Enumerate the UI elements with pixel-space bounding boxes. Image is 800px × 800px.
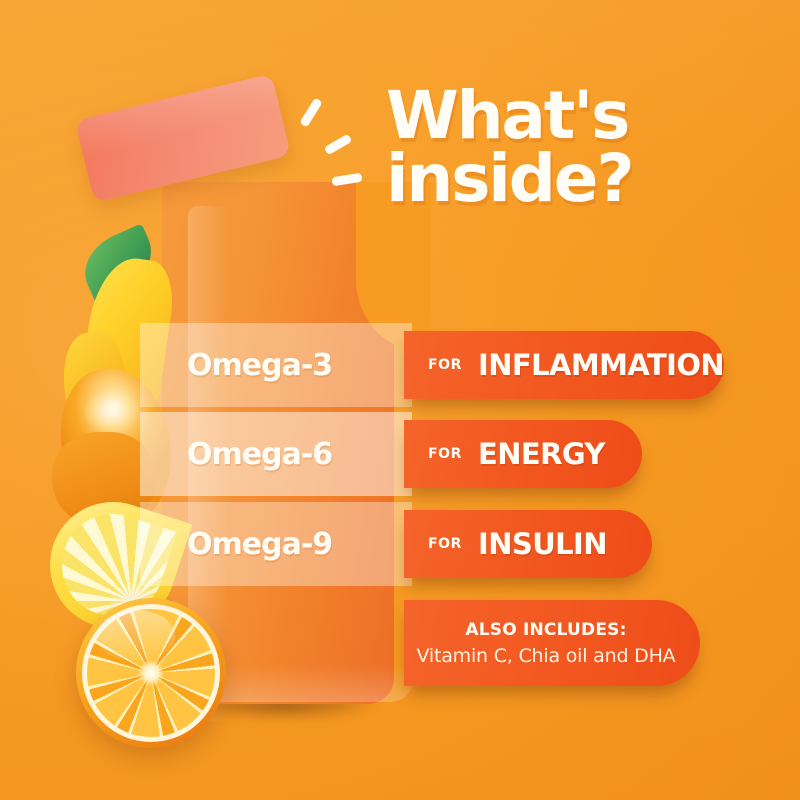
orange-peel-strip [53, 327, 143, 467]
for-label: FOR [428, 357, 462, 373]
also-includes-items: Vitamin C, Chia oil and DHA [417, 645, 676, 667]
ingredient-band: Omega-3 [140, 323, 412, 407]
ingredient-label: Omega-9 [187, 527, 332, 562]
sparkle-icon [299, 97, 323, 127]
ingredient-label: Omega-3 [187, 348, 332, 383]
benefit-pill: FOR INSULIN [404, 510, 652, 578]
ingredient-band: Omega-6 [140, 412, 412, 496]
poster-canvas: What's inside? Omega-3 Omega-6 Omega-9 F… [0, 0, 800, 800]
cap-sheen [75, 74, 280, 159]
bottle-bottom-gloss [186, 664, 414, 702]
benefit-pill: FOR INFLAMMATION [404, 331, 724, 399]
benefit-label: INFLAMMATION [478, 348, 724, 382]
for-label: FOR [428, 536, 462, 552]
ingredient-band: Omega-9 [140, 502, 412, 586]
ingredient-label: Omega-6 [187, 437, 332, 472]
also-includes-title: ALSO INCLUDES: [465, 620, 626, 640]
benefit-label: ENERGY [478, 437, 605, 471]
also-includes-pill: ALSO INCLUDES: Vitamin C, Chia oil and D… [404, 600, 700, 686]
page-title: What's inside? [386, 84, 766, 211]
title-line-2: inside? [386, 147, 766, 210]
for-label: FOR [428, 446, 462, 462]
sparkle-icon [324, 134, 353, 156]
benefit-pill: FOR ENERGY [404, 420, 642, 488]
benefit-label: INSULIN [478, 527, 607, 561]
